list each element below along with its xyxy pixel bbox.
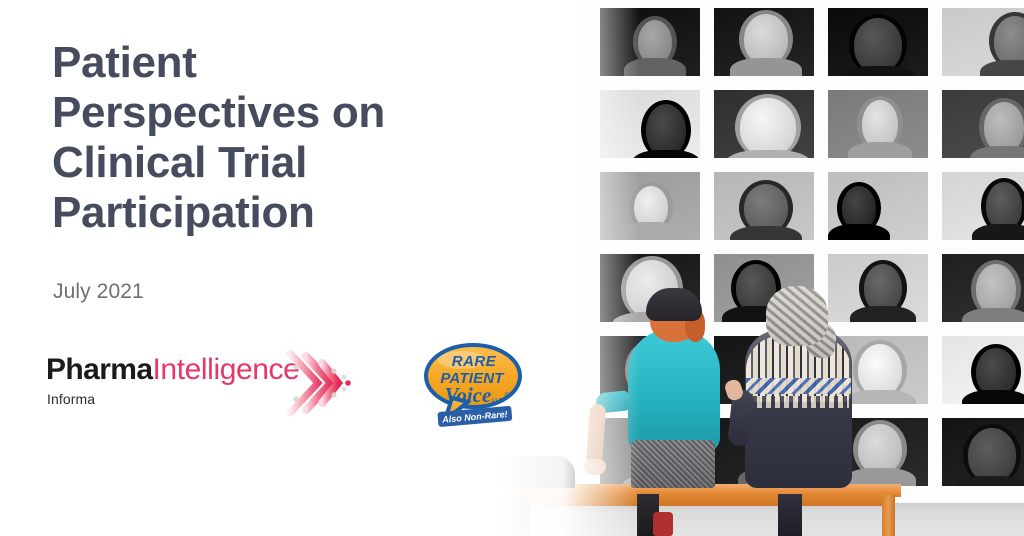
photo-subject-face	[740, 98, 796, 156]
portrait-photo	[714, 172, 814, 240]
photo-subject-face	[984, 102, 1024, 152]
portrait-photo	[942, 172, 1024, 240]
sweater-zigzag-pattern	[746, 378, 851, 394]
person-headscarf	[766, 286, 828, 346]
photo-subject-torso	[962, 308, 1024, 322]
portrait-photo	[600, 8, 700, 76]
pharma-intelligence-wordmark: PharmaIntelligence	[46, 355, 299, 385]
portrait-photo	[600, 90, 700, 158]
rpv-line-three: Voice	[445, 383, 492, 407]
photo-subject-face	[976, 348, 1016, 396]
title-panel: Patient Perspectives on Clinical Trial P…	[0, 0, 600, 536]
photo-subject-torso	[962, 390, 1024, 404]
photo-subject-torso	[972, 224, 1024, 240]
presentation-title-slide: Patient Perspectives on Clinical Trial P…	[0, 0, 1024, 536]
person-teal-sweater	[628, 330, 720, 452]
photo-subject-face	[646, 104, 686, 156]
photo-subject-face	[994, 16, 1024, 66]
pharma-word: Pharma	[46, 353, 152, 386]
photo-subject-torso	[850, 306, 916, 322]
rpv-registered-mark: ®	[504, 391, 510, 400]
photo-subject-face	[976, 264, 1016, 314]
slide-date: July 2021	[53, 280, 144, 304]
intelligence-word: Intelligence	[152, 353, 299, 386]
portrait-photo	[828, 8, 928, 76]
photo-subject-torso	[624, 58, 686, 76]
portrait-photo	[714, 8, 814, 76]
portrait-photo	[942, 418, 1024, 486]
rpv-line-one: RARE	[452, 353, 497, 370]
person-skirt	[631, 440, 715, 488]
photo-subject-face	[862, 100, 898, 148]
person-beanie-hat	[646, 288, 702, 321]
photo-subject-face	[986, 182, 1022, 230]
rpv-trademark: LLC	[492, 398, 503, 404]
portrait-photo	[828, 172, 928, 240]
portrait-photo	[942, 254, 1024, 322]
photo-subject-torso	[620, 222, 682, 240]
person-boot	[653, 512, 673, 536]
person-leg	[778, 494, 802, 536]
slide-title: Patient Perspectives on Clinical Trial P…	[52, 38, 522, 239]
portrait-photo	[942, 336, 1024, 404]
portrait-photo	[600, 172, 700, 240]
portrait-photo	[942, 90, 1024, 158]
photo-subject-face	[854, 18, 902, 72]
photo-subject-face	[858, 424, 902, 474]
pharma-intelligence-logo: PharmaIntelligence Informa	[46, 355, 356, 425]
photo-subject-face	[968, 428, 1016, 482]
wooden-bench-leg-right	[882, 495, 895, 536]
photo-subject-face	[744, 184, 788, 232]
photo-subject-torso	[730, 58, 802, 76]
photo-subject-face	[858, 344, 902, 396]
informa-parent-brand: Informa	[47, 391, 95, 407]
photo-subject-torso	[848, 142, 912, 158]
portrait-photo	[828, 90, 928, 158]
portrait-photo	[828, 254, 928, 322]
rare-patient-voice-logo: RARE PATIENT Voice LLC ® Also Non-Rare!	[418, 336, 530, 432]
photo-subject-face	[744, 14, 788, 64]
photo-subject-torso	[730, 226, 802, 240]
double-chevron-right-icon	[284, 343, 364, 423]
portrait-photo	[942, 8, 1024, 76]
photo-subject-torso	[828, 224, 890, 240]
portrait-photo	[714, 90, 814, 158]
photo-subject-face	[864, 264, 902, 312]
photo-subject-torso	[844, 390, 916, 404]
sweater-hem-pattern	[748, 396, 849, 408]
